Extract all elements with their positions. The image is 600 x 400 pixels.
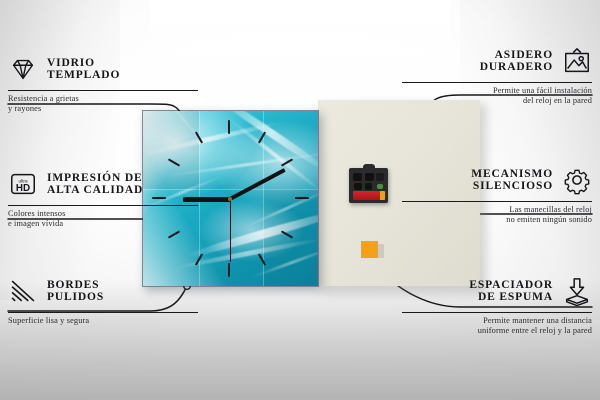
polished-edges-icon xyxy=(8,276,38,306)
feature-espaciador-de-espuma[interactable]: ESPACIADOR DE ESPUMA Permite mantener un… xyxy=(402,272,592,337)
feature-divider xyxy=(402,82,592,83)
feature-description: Superficie lisa y segura xyxy=(8,316,198,326)
foam-spacer-icon xyxy=(562,276,592,306)
feature-description: Colores intensos e imagen vívida xyxy=(8,209,198,230)
feature-header: ASIDERO DURADERO xyxy=(402,42,592,80)
feature-divider xyxy=(8,90,198,91)
ultra-hd-icon-large-label: HD xyxy=(16,183,30,194)
feature-mecanismo-silencioso[interactable]: MECANISMO SILENCIOSO Las manecillas del … xyxy=(402,161,592,226)
feature-title: VIDRIO TEMPLADO xyxy=(47,57,120,82)
feature-bordes-pulidos[interactable]: BORDES PULIDOS Superficie lisa y segura xyxy=(8,272,198,326)
feature-description: Resistencia a grietas y rayones xyxy=(8,94,198,115)
feature-title: BORDES PULIDOS xyxy=(47,279,104,304)
feature-vidrio-templado[interactable]: VIDRIO TEMPLADO Resistencia a grietas y … xyxy=(8,50,198,115)
picture-hanger-icon xyxy=(562,46,592,76)
feature-header: ESPACIADOR DE ESPUMA xyxy=(402,272,592,310)
feature-divider xyxy=(8,205,198,206)
feature-impresion-alta-calidad[interactable]: ultra HD IMPRESIÓN DE ALTA CALIDAD Color… xyxy=(8,165,198,230)
clock-mechanism xyxy=(349,168,388,203)
feature-title: IMPRESIÓN DE ALTA CALIDAD xyxy=(47,172,143,197)
feature-title: MECANISMO SILENCIOSO xyxy=(471,168,553,193)
infographic-canvas: VIDRIO TEMPLADO Resistencia a grietas y … xyxy=(0,0,600,400)
feature-divider xyxy=(8,312,198,313)
foam-spacer xyxy=(361,241,378,258)
feature-title: ASIDERO DURADERO xyxy=(480,49,553,74)
feature-description: Permite una fácil instalación del reloj … xyxy=(402,86,592,107)
feature-header: MECANISMO SILENCIOSO xyxy=(402,161,592,199)
foam-spacer-side xyxy=(378,244,384,258)
feature-description: Permite mantener una distancia uniforme … xyxy=(402,316,592,337)
feature-header: ultra HD IMPRESIÓN DE ALTA CALIDAD xyxy=(8,165,198,203)
clock-second-hand xyxy=(230,198,231,262)
feature-asidero-duradero[interactable]: ASIDERO DURADERO Permite una fácil insta… xyxy=(402,42,592,107)
feature-header: VIDRIO TEMPLADO xyxy=(8,50,198,88)
diamond-icon xyxy=(8,54,38,84)
clock-hub xyxy=(228,197,232,201)
feature-header: BORDES PULIDOS xyxy=(8,272,198,310)
ultra-hd-icon: ultra HD xyxy=(8,169,38,199)
feature-divider xyxy=(402,201,592,202)
feature-title: ESPACIADOR DE ESPUMA xyxy=(469,279,553,304)
feature-divider xyxy=(402,312,592,313)
feature-description: Las manecillas del reloj no emiten ningú… xyxy=(402,205,592,226)
clock-battery xyxy=(353,191,385,200)
gear-icon xyxy=(562,165,592,195)
